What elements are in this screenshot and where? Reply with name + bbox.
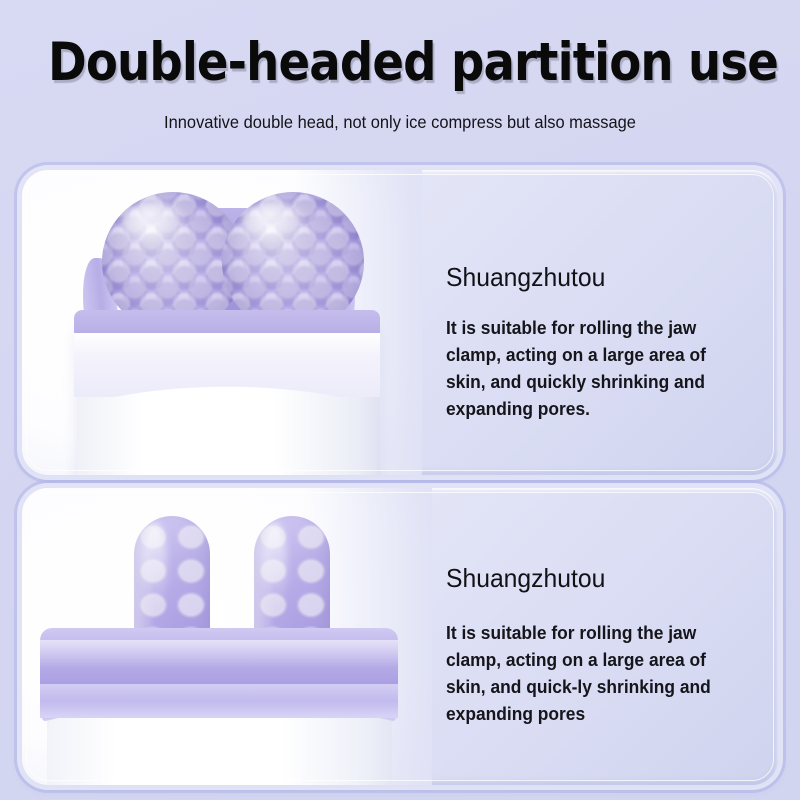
- product-feature-page: Double-headed partition use Innovative d…: [0, 0, 800, 800]
- product-photo-twin-prong: [22, 488, 432, 785]
- product-photo-peanut: [22, 170, 422, 475]
- feature-card-twin-prong-head: Shuangzhutou It is suitable for rolling …: [22, 488, 778, 785]
- feature-heading: Shuangzhutou: [446, 170, 760, 292]
- device-arch-lip: [40, 684, 398, 718]
- page-title: Double-headed partition use: [48, 0, 752, 93]
- feature-text-column: Shuangzhutou It is suitable for rolling …: [446, 170, 776, 475]
- page-header: Double-headed partition use Innovative d…: [0, 0, 800, 133]
- gloss-highlight: [142, 522, 168, 609]
- device-collar-white: [74, 333, 380, 397]
- feature-text-column: Shuangzhutou It is suitable for rolling …: [446, 488, 776, 785]
- gloss-highlight: [122, 202, 187, 244]
- feature-card-peanut-head: Shuangzhutou It is suitable for rolling …: [22, 170, 778, 475]
- gloss-highlight: [242, 202, 307, 244]
- feature-description: It is suitable for rolling the jaw clamp…: [446, 593, 745, 727]
- peanut-roller-illustration: [22, 170, 422, 475]
- device-arch-highlight: [40, 640, 398, 668]
- feature-description: It is suitable for rolling the jaw clamp…: [446, 292, 728, 422]
- gloss-highlight: [262, 522, 288, 609]
- feature-heading: Shuangzhutou: [446, 488, 760, 593]
- page-subtitle: Innovative double head, not only ice com…: [24, 93, 776, 133]
- twin-prong-illustration: [22, 488, 432, 785]
